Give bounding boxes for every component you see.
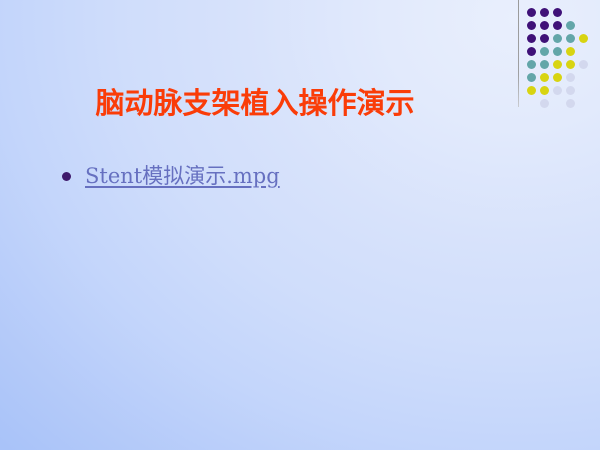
decor-dot	[566, 60, 575, 69]
decor-dot	[527, 21, 536, 30]
decor-dot	[553, 86, 562, 95]
decor-dot	[540, 34, 549, 43]
decor-dot	[540, 73, 549, 82]
decor-dot	[527, 8, 536, 17]
presentation-slide: 脑动脉支架植入操作演示 Stent模拟演示.mpg	[0, 0, 600, 450]
decorative-dot-matrix	[527, 8, 599, 100]
bullet-dot-icon	[62, 172, 71, 181]
decor-dot	[527, 60, 536, 69]
decor-dot	[540, 60, 549, 69]
slide-title: 脑动脉支架植入操作演示	[0, 84, 510, 122]
decor-dot	[553, 21, 562, 30]
vertical-divider-line	[518, 0, 519, 107]
decor-dot	[553, 60, 562, 69]
decor-dot	[527, 34, 536, 43]
decor-dot	[579, 34, 588, 43]
decor-dot	[540, 47, 549, 56]
decor-dot	[540, 99, 549, 108]
decor-dot	[527, 86, 536, 95]
decor-dot	[566, 47, 575, 56]
decor-dot	[566, 86, 575, 95]
decor-dot	[540, 21, 549, 30]
decor-dot	[540, 86, 549, 95]
decor-dot	[527, 47, 536, 56]
decor-dot	[553, 47, 562, 56]
slide-body-list: Stent模拟演示.mpg	[62, 163, 532, 196]
decor-dot	[527, 73, 536, 82]
decor-dot	[566, 34, 575, 43]
decor-dot	[553, 8, 562, 17]
decor-dot	[566, 73, 575, 82]
decor-dot	[553, 34, 562, 43]
media-hyperlink[interactable]: Stent模拟演示.mpg	[85, 163, 532, 190]
list-item[interactable]: Stent模拟演示.mpg	[62, 163, 532, 190]
decor-dot	[553, 73, 562, 82]
decor-dot	[566, 99, 575, 108]
decor-dot	[579, 60, 588, 69]
decor-dot	[540, 8, 549, 17]
decor-dot	[566, 21, 575, 30]
